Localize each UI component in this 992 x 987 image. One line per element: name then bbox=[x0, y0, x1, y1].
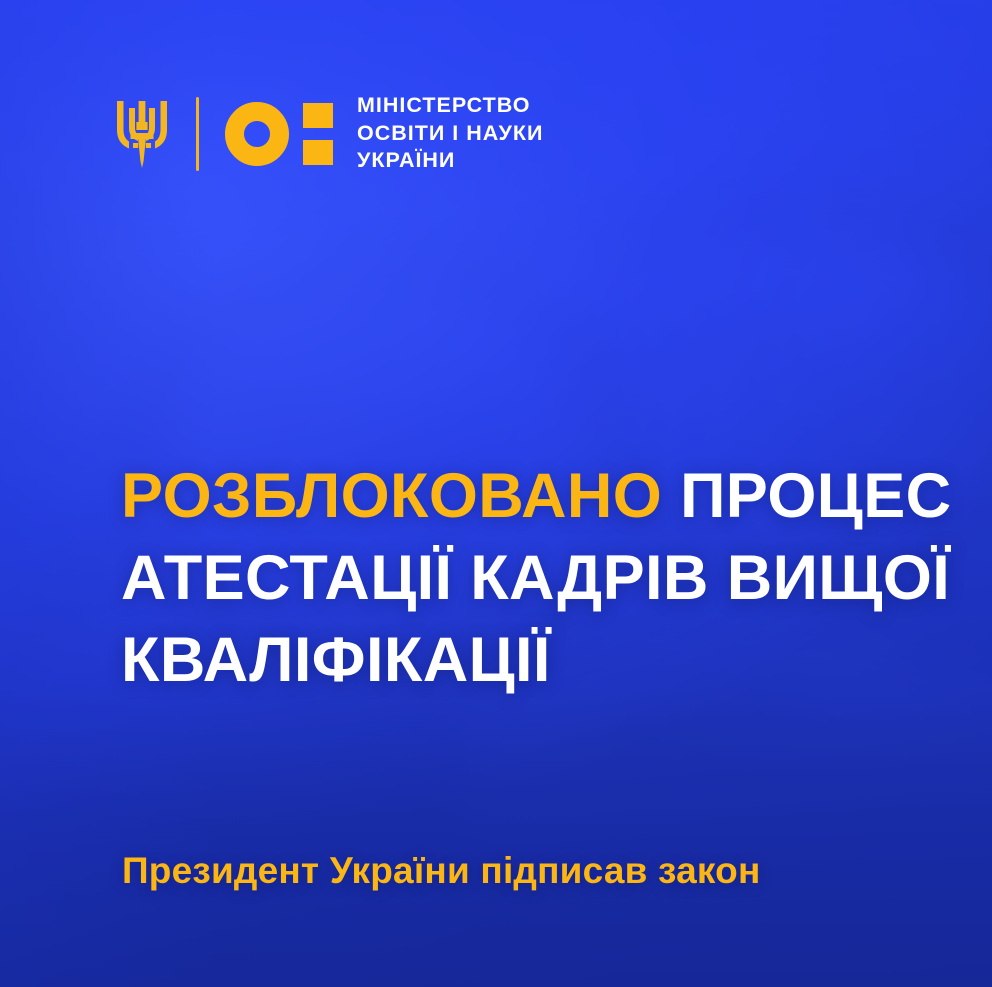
ministry-line-2: ОСВІТИ І НАУКИ bbox=[357, 121, 543, 145]
subtitle: Президент України підписав закон bbox=[122, 850, 761, 892]
ministry-line-1: МІНІСТЕРСТВО bbox=[357, 93, 531, 117]
ministry-name: МІНІСТЕРСТВО ОСВІТИ І НАУКИ УКРАЇНИ bbox=[357, 92, 543, 175]
headline-accent-word: РОЗБЛОКОВАНО bbox=[121, 461, 662, 531]
logo-bar-top bbox=[303, 103, 333, 128]
logo-equals-bars bbox=[303, 103, 333, 165]
logo-divider bbox=[196, 97, 199, 171]
ministry-logo-lockup: МІНІСТЕРСТВО ОСВІТИ І НАУКИ УКРАЇНИ bbox=[114, 92, 543, 175]
logo-ring-o bbox=[225, 102, 289, 166]
headline: РОЗБЛОКОВАНО ПРОЦЕС АТЕСТАЦІЇ КАДРІВ ВИЩ… bbox=[121, 455, 961, 701]
logo-bar-bottom bbox=[303, 140, 333, 165]
announcement-banner: МІНІСТЕРСТВО ОСВІТИ І НАУКИ УКРАЇНИ РОЗБ… bbox=[0, 0, 992, 987]
ukrainian-trident-emblem-icon bbox=[114, 97, 170, 171]
mon-o-equals-logo-icon bbox=[225, 102, 333, 166]
ministry-line-3: УКРАЇНИ bbox=[357, 148, 455, 172]
